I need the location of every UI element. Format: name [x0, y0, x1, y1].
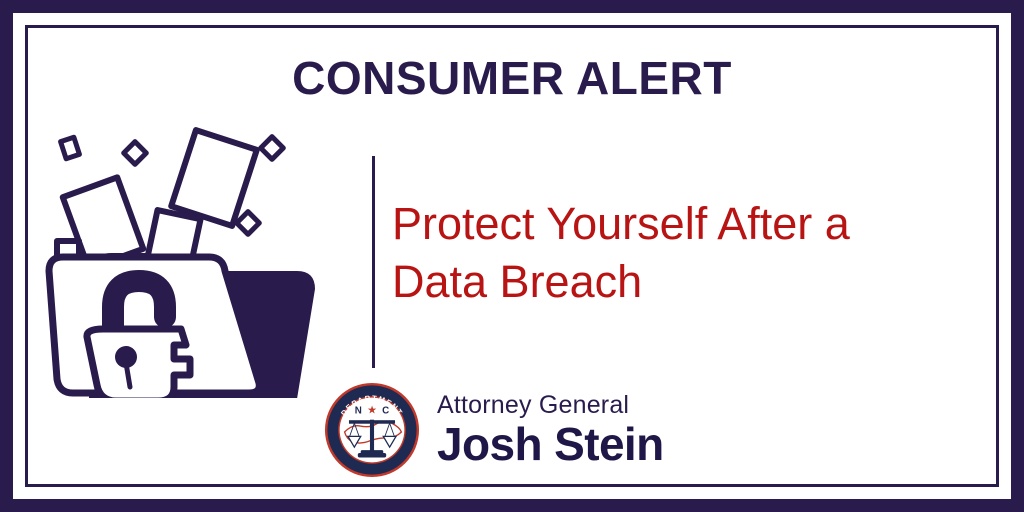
svg-text:N: N — [355, 405, 362, 416]
consumer-alert-graphic: CONSUMER ALERT — [0, 0, 1024, 512]
open-folder-unlocked-documents-icon — [35, 113, 335, 398]
attorney-general-signature-block: DEPARTMENT OF JUSTICE N ★ C — [323, 381, 664, 479]
headline-line-2: Data Breach — [392, 253, 982, 311]
svg-text:C: C — [382, 405, 389, 416]
nc-department-of-justice-seal-icon: DEPARTMENT OF JUSTICE N ★ C — [323, 381, 421, 479]
headline-line-1: Protect Yourself After a — [392, 195, 982, 253]
svg-text:★: ★ — [367, 404, 377, 416]
signature-text: Attorney General Josh Stein — [437, 390, 664, 470]
page-title: CONSUMER ALERT — [13, 51, 1011, 105]
headline: Protect Yourself After a Data Breach — [392, 195, 982, 311]
attorney-general-label: Attorney General — [437, 392, 664, 418]
attorney-general-name: Josh Stein — [437, 420, 664, 470]
vertical-divider — [372, 156, 375, 368]
